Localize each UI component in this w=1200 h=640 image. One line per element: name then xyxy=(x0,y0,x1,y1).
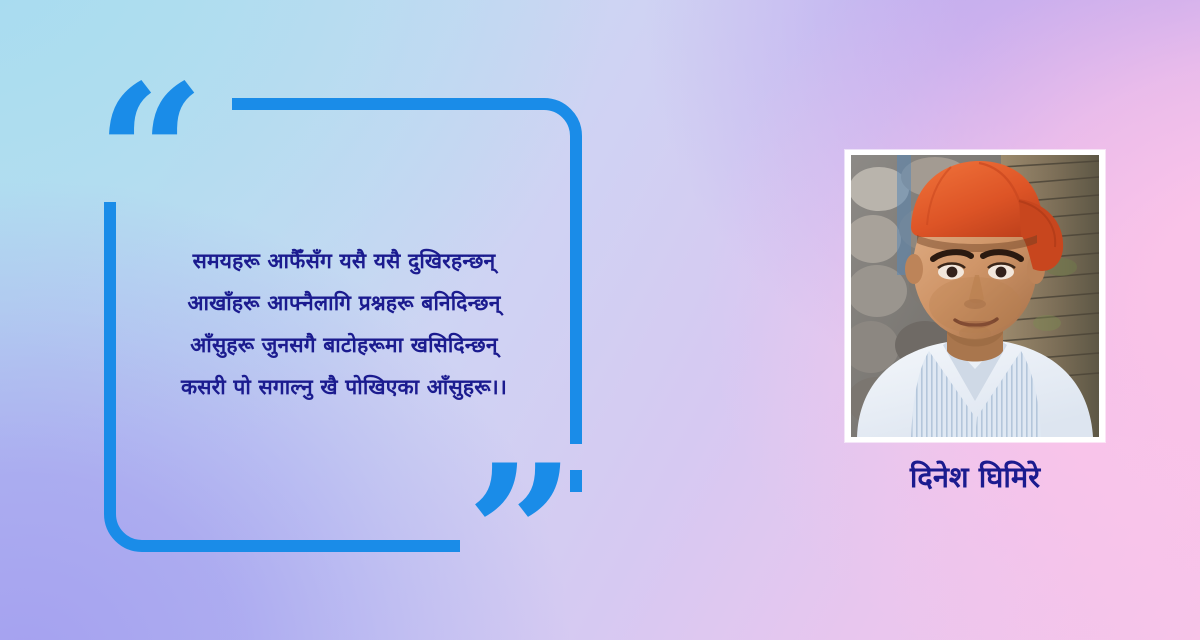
quote-line: कसरी पो सगाल्नु खै पोखिएका आँसुहरू।। xyxy=(118,366,570,408)
author-portrait-photo xyxy=(851,155,1099,437)
quote-line: आखाँहरू आफ्नैलागि प्रश्नहरू बनिदिन्छन् xyxy=(118,282,570,324)
quote-poster: “ ” समयहरू आफैँसँग यसै यसै दुखिरहन्छन् आ… xyxy=(0,0,1200,640)
closing-quote-icon: ” xyxy=(466,440,575,630)
opening-quote-icon: “ xyxy=(96,60,205,250)
quote-text-block: समयहरू आफैँसँग यसै यसै दुखिरहन्छन् आखाँह… xyxy=(118,240,570,408)
quote-line: आँसुहरू जुनसगै बाटोहरूमा खसिदिन्छन् xyxy=(118,324,570,366)
author-name: दिनेश घिमिरे xyxy=(805,458,1145,496)
quote-line: समयहरू आफैँसँग यसै यसै दुखिरहन्छन् xyxy=(118,240,570,282)
portrait-card xyxy=(845,150,1105,442)
